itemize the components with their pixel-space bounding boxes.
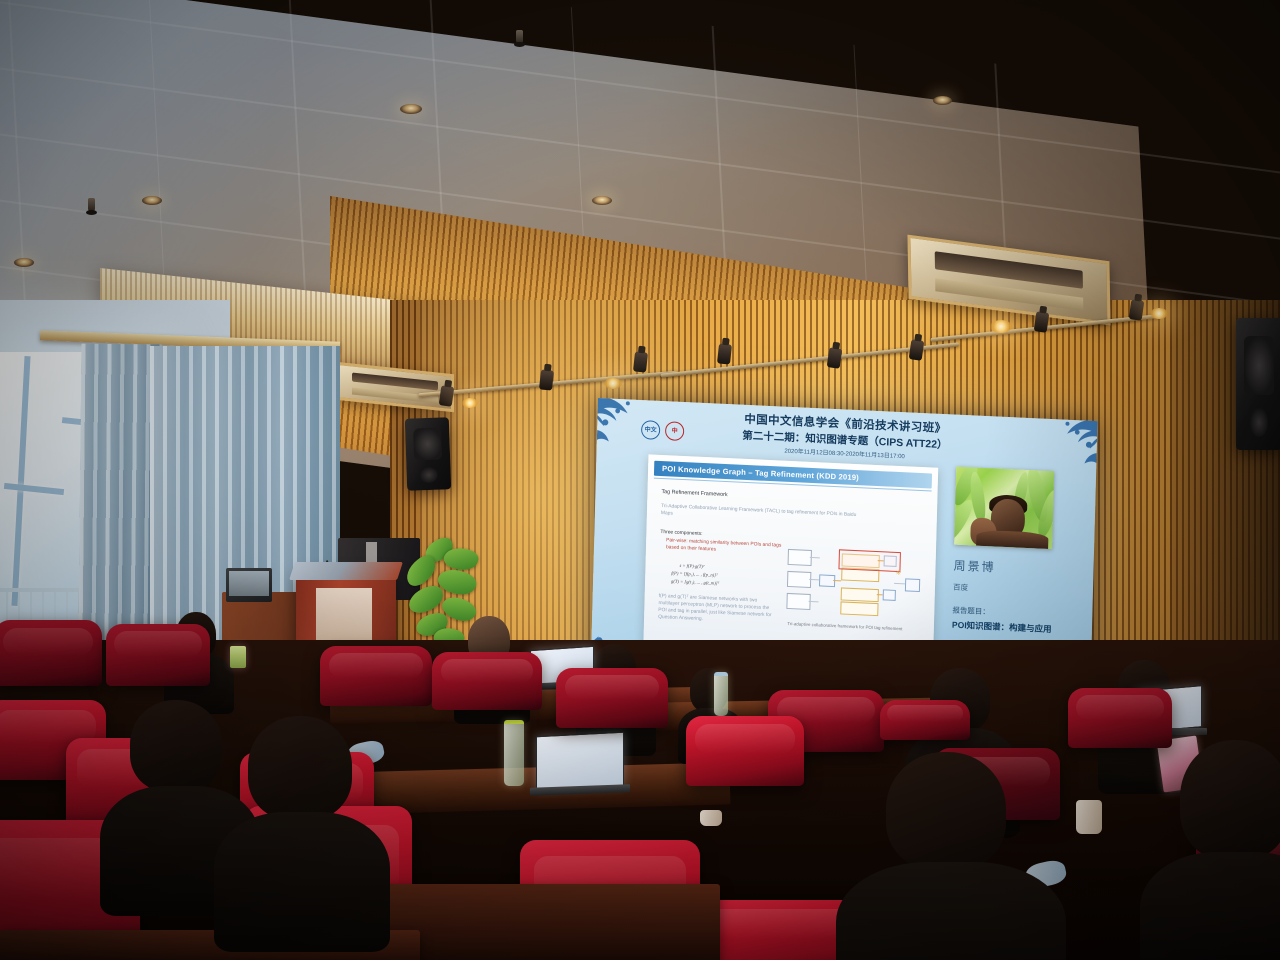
- ceiling-downlight: [14, 258, 34, 267]
- speaker-photo: [954, 467, 1054, 550]
- speaker-organization: 百度: [953, 582, 1053, 598]
- spotlight-fixture: [439, 385, 455, 407]
- smartphone: [230, 646, 246, 668]
- paper-cup: [700, 810, 722, 826]
- ceiling-downlight: [933, 96, 952, 105]
- slide-bullet-1: Tri-Adaptive Collaborative Learning Fram…: [661, 503, 861, 527]
- auditorium-seat: [0, 620, 102, 686]
- seat-row-base: [380, 884, 720, 960]
- slide-section-heading: Tag Refinement Framework: [661, 489, 727, 498]
- ceiling-downlight: [400, 104, 422, 114]
- speaker-topic: POI知识图谱：构建与应用: [952, 619, 1052, 636]
- spotlight-fixture: [909, 339, 925, 361]
- auditorium-seat: [1068, 688, 1172, 748]
- desk-monitor: [226, 568, 272, 602]
- presentation-slide: POI Knowledge Graph – Tag Refinement (KD…: [643, 454, 938, 663]
- slide-bullet-2-sub: Pair-wise: matching similarity between P…: [666, 537, 784, 557]
- podium-top-surface: [289, 562, 403, 580]
- track-lamp-glow: [990, 320, 1012, 333]
- ceiling-downlight: [592, 196, 612, 205]
- diagram-highlight-box: [838, 549, 900, 572]
- water-bottle: [714, 672, 728, 716]
- spotlight-fixture: [539, 369, 554, 390]
- speaker-info: 周景博 百度 报告题目： POI知识图谱：构建与应用: [952, 557, 1054, 636]
- auditorium-seat: [106, 624, 210, 686]
- water-bottle: [504, 720, 524, 786]
- topic-label: 报告题目：: [952, 605, 1052, 621]
- auditorium-seat: [686, 716, 804, 786]
- spotlight-fixture: [1129, 299, 1145, 321]
- spotlight-fixture: [633, 351, 648, 372]
- track-lamp-glow: [1150, 308, 1168, 319]
- wall-speaker-left: [405, 417, 451, 490]
- auditorium-seat: [556, 668, 668, 728]
- ceiling-downlight: [142, 196, 162, 205]
- spotlight-fixture: [717, 343, 732, 364]
- slide-formula-3: g(T) = [g(t₁), ... , g(t_m)]ᵀ: [671, 578, 719, 588]
- sprinkler-head: [88, 198, 95, 212]
- sprinkler-head: [516, 30, 523, 44]
- diagram-caption: Tri-adaptive collaborative framework for…: [786, 621, 904, 633]
- slide-explanation: f(P) and g(T)ᵀ are Siamese networks with…: [658, 593, 779, 627]
- track-lamp-glow: [462, 398, 478, 408]
- auditorium-seat: [432, 652, 542, 710]
- spotlight-fixture: [827, 347, 843, 369]
- room-photo: 中文 中 中国中文信息学会《前沿技术讲习班》 第二十二期：知识图谱专题（CIPS…: [0, 0, 1280, 960]
- framework-diagram: ✳: [784, 545, 924, 623]
- speaker-name: 周景博: [953, 557, 1053, 579]
- auditorium-seat: [880, 700, 970, 740]
- auditorium-seat: [320, 646, 432, 706]
- paper-cup: [1076, 800, 1102, 834]
- spotlight-fixture: [1034, 311, 1050, 333]
- track-lamp-glow: [604, 378, 622, 389]
- wall-speaker-right: [1236, 318, 1280, 450]
